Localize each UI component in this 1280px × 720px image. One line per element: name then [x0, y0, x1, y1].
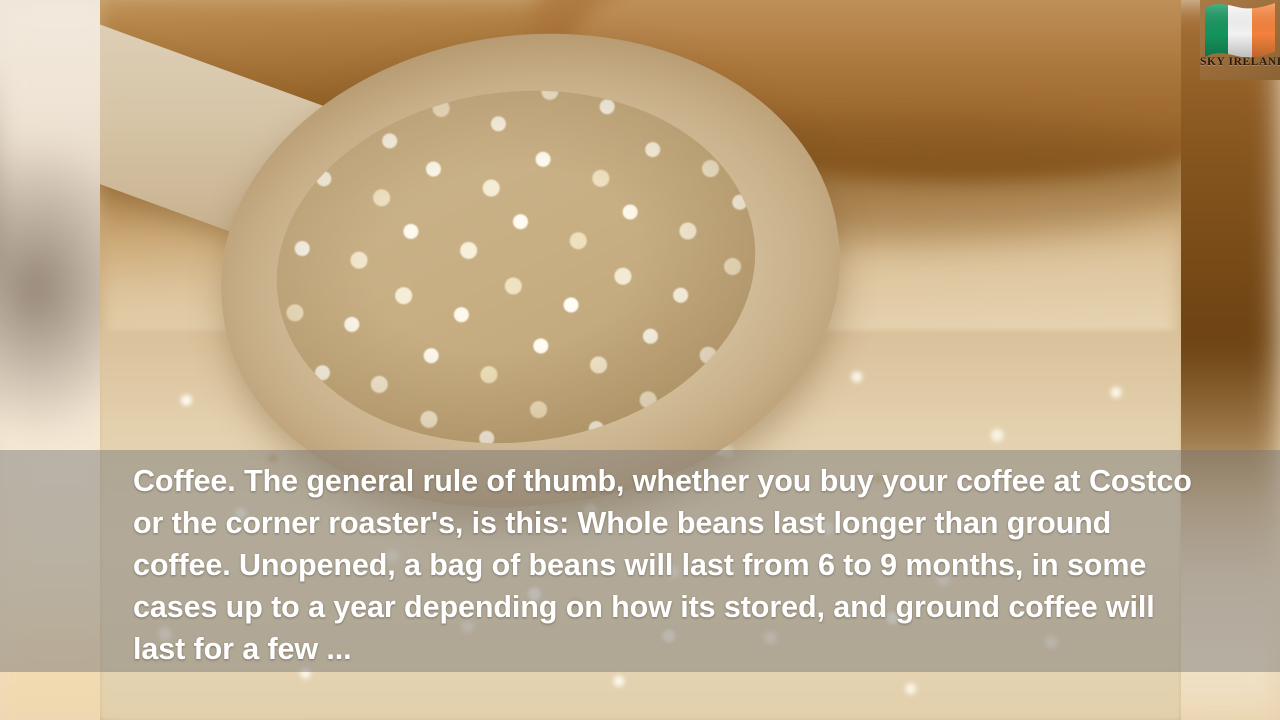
watermark-logo: SKY IRELAND — [1200, 0, 1280, 80]
irish-flag-icon — [1203, 2, 1277, 60]
quinoa-shading — [256, 64, 775, 470]
spoon-bowl-cavity — [256, 64, 775, 470]
video-frame: Coffee. The general rule of thumb, wheth… — [0, 0, 1280, 720]
caption-text: Coffee. The general rule of thumb, wheth… — [133, 460, 1203, 670]
watermark-brand-label: SKY IRELAND — [1200, 56, 1280, 68]
